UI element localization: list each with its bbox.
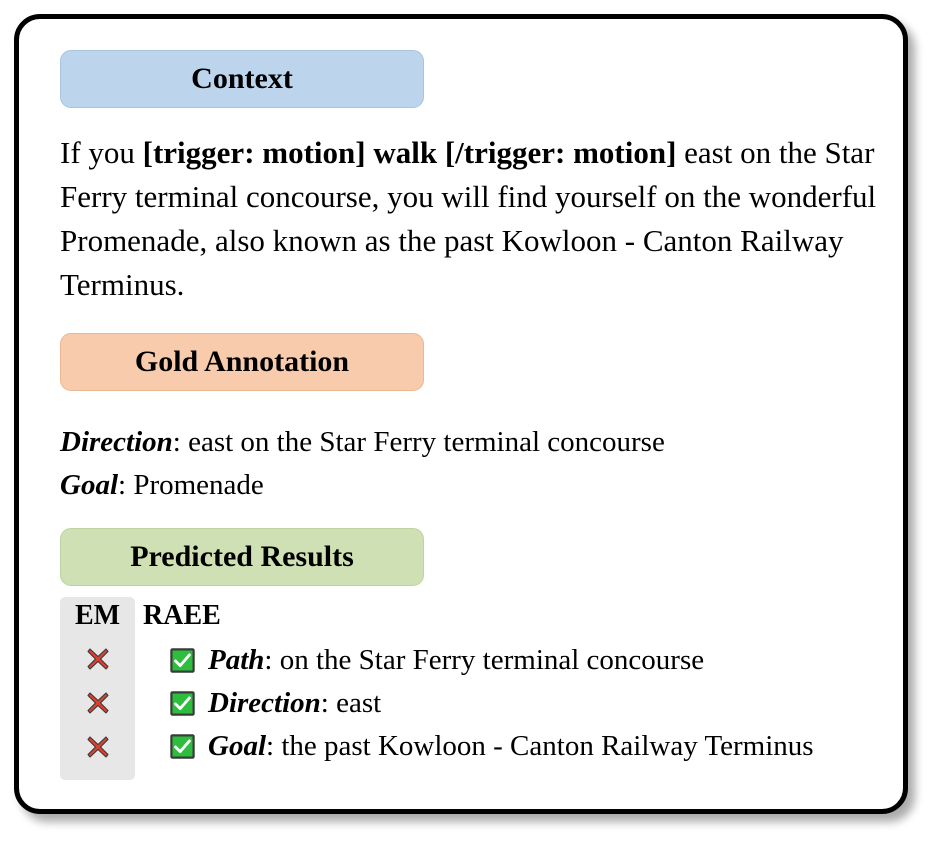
cross-mark-icon: [85, 690, 111, 716]
gold-annotation-item: Goal: Promenade: [60, 464, 880, 507]
raee-row: Path: on the Star Ferry terminal concour…: [170, 639, 890, 681]
raee-row-separator: :: [266, 730, 281, 762]
raee-row-separator: :: [264, 644, 279, 676]
gold-annotation-item-label: Direction: [60, 426, 173, 458]
context-paragraph: If you [trigger: motion] walk [/trigger:…: [60, 131, 880, 307]
cross-mark-icon: [85, 734, 111, 760]
column-header-raee: RAEE: [143, 597, 221, 635]
em-cell-cross-mark: [60, 641, 135, 672]
context-trigger-close-tag: [/trigger: motion]: [445, 135, 677, 170]
raee-row-label: Path: [208, 644, 264, 676]
raee-row: Direction: east: [170, 682, 890, 724]
section-badge-gold-annotation-label: Gold Annotation: [135, 345, 349, 378]
section-badge-predicted-results-label: Predicted Results: [130, 540, 354, 573]
gold-annotation-item-label: Goal: [60, 469, 118, 501]
raee-row-text: Path: on the Star Ferry terminal concour…: [208, 639, 890, 681]
raee-row-value: on the Star Ferry terminal concourse: [280, 644, 704, 676]
section-badge-predicted-results: Predicted Results: [60, 528, 424, 586]
cross-mark-icon: [85, 646, 111, 672]
context-trigger-open-tag: [trigger: motion]: [143, 135, 366, 170]
raee-cell-check-mark: [170, 725, 208, 764]
raee-row-text: Goal: the past Kowloon - Canton Railway …: [208, 725, 890, 767]
raee-cell-check-mark: [170, 682, 208, 721]
check-mark-icon: [170, 648, 195, 673]
context-trigger-word: walk: [373, 135, 437, 170]
raee-row-text: Direction: east: [208, 682, 890, 724]
column-header-em: EM: [60, 597, 135, 635]
figure-card: Context If you [trigger: motion] walk [/…: [14, 14, 908, 814]
raee-row-value: east: [336, 687, 381, 719]
raee-row-value: the past Kowloon - Canton Railway Termin…: [281, 730, 813, 762]
em-cell-cross-mark: [60, 729, 135, 760]
raee-cell-check-mark: [170, 639, 208, 678]
section-badge-gold-annotation: Gold Annotation: [60, 333, 424, 391]
em-cell-cross-mark: [60, 685, 135, 716]
raee-row-label: Direction: [208, 687, 321, 719]
raee-row: Goal: the past Kowloon - Canton Railway …: [170, 725, 890, 767]
context-text-part-3: [437, 135, 445, 170]
raee-row-label: Goal: [208, 730, 266, 762]
section-badge-context-label: Context: [191, 62, 293, 95]
raee-row-list: Path: on the Star Ferry terminal concour…: [170, 639, 890, 768]
section-badge-context: Context: [60, 50, 424, 108]
raee-row-separator: :: [321, 687, 336, 719]
context-text-part-1: If you: [60, 135, 143, 170]
gold-annotation-item-separator: :: [173, 426, 188, 458]
gold-annotation-item-separator: :: [118, 469, 133, 501]
gold-annotation-item-value: Promenade: [133, 469, 263, 501]
check-mark-icon: [170, 691, 195, 716]
gold-annotation-item: Direction: east on the Star Ferry termin…: [60, 421, 880, 464]
gold-annotation-item-value: east on the Star Ferry terminal concours…: [188, 426, 665, 458]
gold-annotation-list: Direction: east on the Star Ferry termin…: [60, 421, 880, 507]
check-mark-icon: [170, 734, 195, 759]
